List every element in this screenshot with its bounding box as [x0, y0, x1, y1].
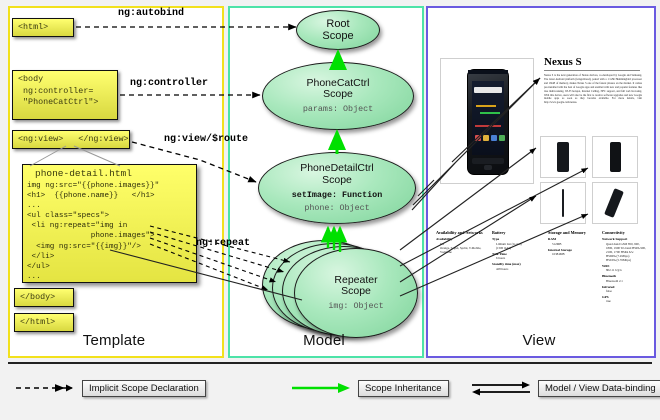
phone-app-icon-4 [499, 135, 505, 141]
legend-label-scope-inheritance: Scope Inheritance [358, 380, 449, 397]
scope-phonecatctrl-prop-params: params: Object [303, 104, 373, 114]
scope-phonedetailctrl-prop-setimage: setImage: Function [292, 190, 382, 200]
scope-repeater: Repeater Scope img: Object [294, 248, 418, 338]
scope-root-line1: Root [326, 18, 349, 30]
file-callout-title: phone-detail.html [27, 167, 192, 181]
phone-wallpaper-line-1 [476, 105, 496, 107]
legend-dashed-arrow-icon [14, 379, 76, 397]
code-box-html-open: <html> [12, 18, 74, 37]
spec-column-availability-header: Availability and Networks [436, 230, 488, 235]
phone-app-icon-1 [475, 135, 481, 141]
spec-column-storage: Storage and Memory RAM 512MB Internal St… [548, 230, 600, 256]
spec-battery-talk-value: 6 hours [492, 256, 544, 260]
spec-network-value-2: HSUPA (5.76Mbps) [602, 258, 646, 262]
spec-wifi-value: 802.11 b/g/n [602, 268, 646, 272]
code-box-body-open: <body ng:controller= "PhoneCatCtrl"> [12, 70, 118, 120]
thumbnail-phone-back[interactable] [592, 136, 638, 178]
scope-phonedetailctrl-line2: Scope [322, 175, 352, 187]
legend-item-scope-inheritance: Scope Inheritance [290, 378, 449, 398]
scope-repeater-stack: Repeater Scope img: Object [262, 238, 418, 338]
diagram-canvas: <html> <body ng:controller= "PhoneCatCtr… [0, 0, 660, 420]
label-ng-autobind: ng:autobind [118, 8, 184, 19]
label-ng-repeat: ng:repeat [196, 238, 250, 249]
thumbnail-phone-angled[interactable] [592, 182, 638, 224]
spec-gps-value: true [602, 299, 646, 303]
phone-app-icon-3 [491, 135, 497, 141]
scope-phonedetailctrl: PhoneDetailCtrl Scope setImage: Function… [258, 152, 416, 224]
view-rendered-page: Nexus S Nexus S is the next generation o… [434, 26, 646, 334]
phone-search-widget [474, 87, 502, 93]
spec-infrared-value: false [602, 289, 646, 293]
spec-table: Availability and Networks Availability U… [436, 230, 644, 306]
spec-column-availability: Availability and Networks Availability U… [436, 230, 488, 254]
legend-green-arrow-icon [290, 379, 352, 397]
scope-repeater-line2: Scope [341, 286, 371, 298]
phone-home-key [484, 165, 492, 170]
scope-phonecatctrl-line2: Scope [323, 89, 353, 101]
thumb-1-shape [557, 142, 569, 172]
scope-repeater-prop-img: img: Object [328, 301, 383, 311]
legend-label-model-view-data-binding: Model / View Data-binding [538, 380, 660, 397]
phone-soft-keys [472, 158, 504, 164]
thumb-2-shape [610, 142, 621, 172]
thumb-3-shape [562, 189, 564, 217]
code-box-body-close: </body> [14, 288, 74, 307]
spec-bluetooth-value: Bluetooth 2.1 [602, 279, 646, 283]
product-title: Nexus S [544, 56, 582, 68]
product-title-rule [544, 70, 640, 71]
phone-hero-image [467, 69, 509, 175]
label-ng-controller: ng:controller [130, 78, 208, 89]
spec-column-connectivity: Connectivity Network Support Quad-band G… [602, 230, 646, 304]
spec-column-battery-header: Battery [492, 230, 544, 235]
phone-app-icon-2 [483, 135, 489, 141]
code-box-ngview: <ng:view> </ng:view> [12, 130, 130, 149]
legend-item-implicit-scope-declaration: Implicit Scope Declaration [14, 378, 206, 398]
thumbnail-phone-side[interactable] [540, 182, 586, 224]
spec-ram-value: 512MB [548, 242, 600, 246]
thumb-4-shape [604, 188, 624, 218]
spec-battery-standby-value: 428 hours [492, 267, 544, 271]
legend-label-implicit-scope-declaration: Implicit Scope Declaration [82, 380, 206, 397]
spec-battery-type-value-1: (1500 mAh) [492, 246, 544, 250]
scope-root-line2: Scope [322, 30, 353, 42]
phone-screen [472, 81, 504, 155]
scope-root: Root Scope [296, 10, 380, 50]
file-callout-phone-detail: phone-detail.html img ng:src="{{phone.im… [22, 164, 197, 283]
legend-item-model-view-data-binding: Model / View Data-binding [470, 378, 660, 398]
spec-network-value-0: Quad-band GSM 850, 900, 1800, 1900 Tri-b… [602, 242, 646, 254]
thumbnail-grid [540, 136, 642, 224]
spec-internal-value: 16384MB [548, 252, 600, 256]
spec-availability-value-1: Orange, Segtel, Sprint, T-Mobile, Vodafo… [436, 246, 488, 254]
spec-column-connectivity-header: Connectivity [602, 230, 646, 235]
phone-wallpaper-line-2 [480, 112, 500, 114]
spec-column-battery: Battery Type Lithium Ion (Li-Ion) (1500 … [492, 230, 544, 271]
phone-hero-image-frame [440, 58, 534, 184]
phone-status-bar [468, 70, 508, 74]
phone-wallpaper-line-3 [475, 125, 501, 127]
scope-phonedetailctrl-prop-phone: phone: Object [304, 203, 369, 213]
product-description: Nexus S is the next generation of Nexus … [544, 74, 642, 105]
phone-app-dock [474, 133, 502, 145]
legend-double-arrow-icon [470, 379, 532, 397]
spec-column-storage-header: Storage and Memory [548, 230, 600, 235]
thumbnail-phone-front[interactable] [540, 136, 586, 178]
file-callout-code: img ng:src="{{phone.images}}" <h1> {{pho… [27, 181, 192, 282]
scope-phonecatctrl: PhoneCatCtrl Scope params: Object [262, 62, 414, 130]
legend-divider [8, 362, 652, 364]
label-ng-view-route: ng:view/$route [164, 134, 248, 145]
code-box-html-close: </html> [14, 313, 74, 332]
legend: Implicit Scope Declaration Scope Inherit… [0, 360, 660, 420]
